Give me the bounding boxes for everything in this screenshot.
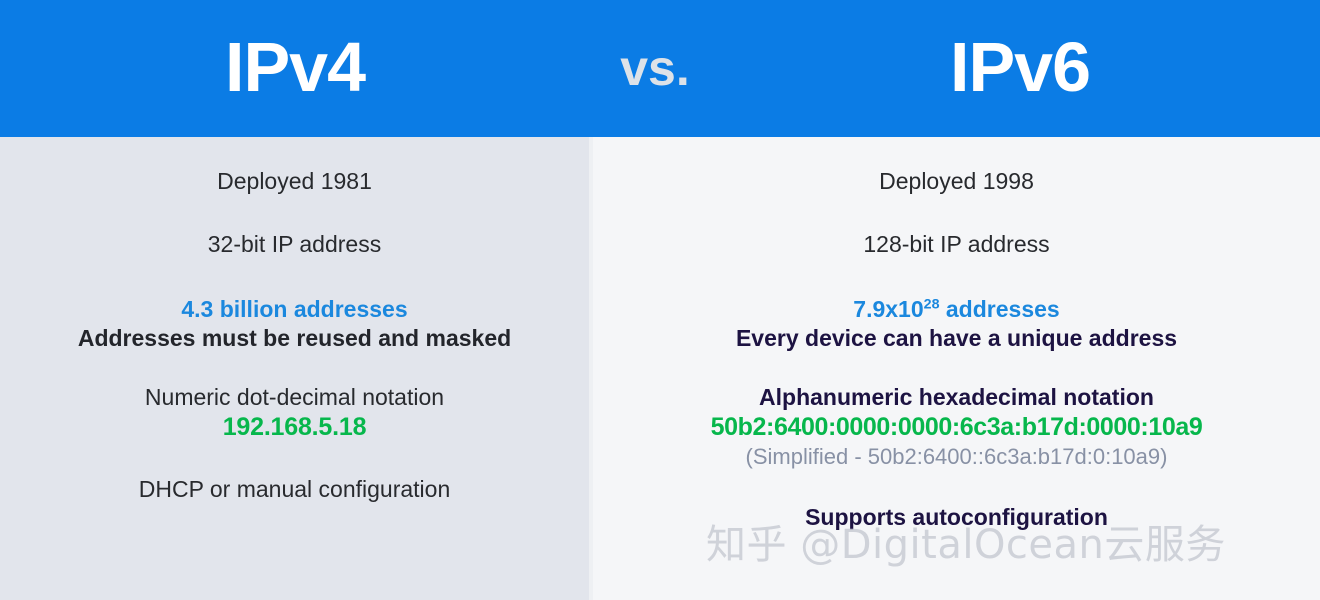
- ipv4-example-address: 192.168.5.18: [14, 412, 575, 444]
- ipv6-address-count-suffix: addresses: [940, 296, 1060, 322]
- ipv4-column: Deployed 1981 32-bit IP address 4.3 bill…: [0, 137, 589, 600]
- ipv6-address-size-block: 128-bit IP address: [593, 230, 1320, 259]
- ipv6-address-size: 128-bit IP address: [607, 230, 1306, 259]
- header-bar: IPv4 vs. IPv6: [0, 0, 1320, 137]
- ipv6-example-address-simplified: (Simplified - 50b2:6400::6c3a:b17d:0:10a…: [607, 443, 1306, 471]
- ipv6-address-note: Every device can have a unique address: [607, 324, 1306, 353]
- ipv4-title: IPv4: [225, 32, 365, 106]
- ipv6-example-address: 50b2:6400:0000:0000:6c3a:b17d:0000:10a9: [607, 412, 1306, 444]
- ipv6-deployed-block: Deployed 1998: [593, 167, 1320, 196]
- ipv6-address-count: 7.9x1028 addresses: [607, 295, 1306, 324]
- ipv6-address-count-block: 7.9x1028 addresses Every device can have…: [593, 295, 1320, 353]
- ipv4-address-count: 4.3 billion addresses: [14, 295, 575, 324]
- ipv6-address-count-exponent: 28: [924, 296, 940, 312]
- header-middle-cell: vs.: [590, 0, 720, 137]
- comparison-body: Deployed 1981 32-bit IP address 4.3 bill…: [0, 137, 1320, 600]
- header-right-cell: IPv6: [720, 0, 1320, 137]
- ipv6-notation-block: Alphanumeric hexadecimal notation 50b2:6…: [593, 383, 1320, 471]
- versus-label: vs.: [620, 43, 690, 95]
- ipv6-configuration-block: Supports autoconfiguration: [593, 503, 1320, 532]
- ipv4-address-count-block: 4.3 billion addresses Addresses must be …: [0, 295, 589, 353]
- ipv4-configuration: DHCP or manual configuration: [14, 475, 575, 504]
- ipv4-address-note: Addresses must be reused and masked: [14, 324, 575, 353]
- ipv4-notation-block: Numeric dot-decimal notation 192.168.5.1…: [0, 383, 589, 443]
- ipv4-deployed: Deployed 1981: [14, 167, 575, 196]
- header-inner: IPv4 vs. IPv6: [0, 0, 1320, 137]
- ipv4-configuration-block: DHCP or manual configuration: [0, 475, 589, 504]
- ipv4-address-size: 32-bit IP address: [14, 230, 575, 259]
- ipv6-address-count-base: 7.9x10: [853, 296, 923, 322]
- ipv4-vs-ipv6-infographic: IPv4 vs. IPv6 Deployed 1981 32-bit IP ad…: [0, 0, 1320, 600]
- ipv6-column: Deployed 1998 128-bit IP address 7.9x102…: [593, 137, 1320, 600]
- ipv4-deployed-block: Deployed 1981: [0, 167, 589, 196]
- ipv4-notation-label: Numeric dot-decimal notation: [14, 383, 575, 412]
- ipv4-address-size-block: 32-bit IP address: [0, 230, 589, 259]
- ipv6-title: IPv6: [950, 32, 1090, 106]
- ipv6-notation-label: Alphanumeric hexadecimal notation: [607, 383, 1306, 412]
- ipv6-deployed: Deployed 1998: [607, 167, 1306, 196]
- header-left-cell: IPv4: [0, 0, 590, 137]
- ipv6-configuration: Supports autoconfiguration: [607, 503, 1306, 532]
